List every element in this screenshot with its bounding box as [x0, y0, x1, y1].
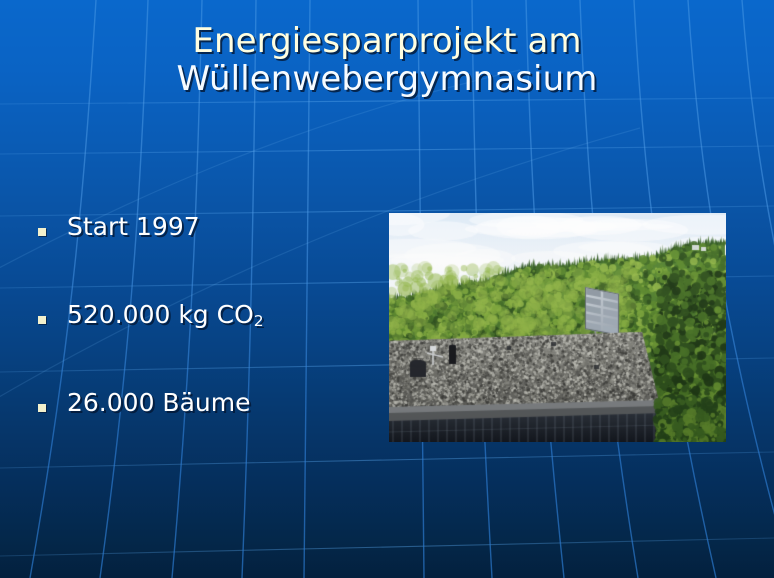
presentation-slide: Energiesparprojekt am Wüllenwebergymnasi…	[0, 0, 774, 578]
photo-canvas	[389, 213, 726, 442]
bullet-text-trees: 26.000 Bäume	[67, 390, 250, 416]
bullet-text-start-year: Start 1997	[67, 214, 200, 240]
bullet-list: Start 1997 520.000 kg CO2 26.000 Bäume	[38, 214, 368, 478]
bullet-square-icon	[38, 404, 46, 412]
bullet-text-co2-main: 520.000 kg CO	[67, 300, 254, 329]
photo-roof-solar-panel	[389, 213, 726, 442]
bullet-square-icon	[38, 228, 46, 236]
list-item: 26.000 Bäume	[38, 390, 368, 478]
list-item: Start 1997	[38, 214, 368, 302]
bullet-text-co2-saved: 520.000 kg CO2	[67, 302, 264, 328]
page-title: Energiesparprojekt am Wüllenwebergymnasi…	[0, 22, 774, 98]
title-line-2: Wüllenwebergymnasium	[0, 60, 774, 98]
title-line-1: Energiesparprojekt am	[0, 22, 774, 60]
list-item: 520.000 kg CO2	[38, 302, 368, 390]
bullet-square-icon	[38, 316, 46, 324]
bullet-text-co2-subscript: 2	[254, 312, 264, 330]
